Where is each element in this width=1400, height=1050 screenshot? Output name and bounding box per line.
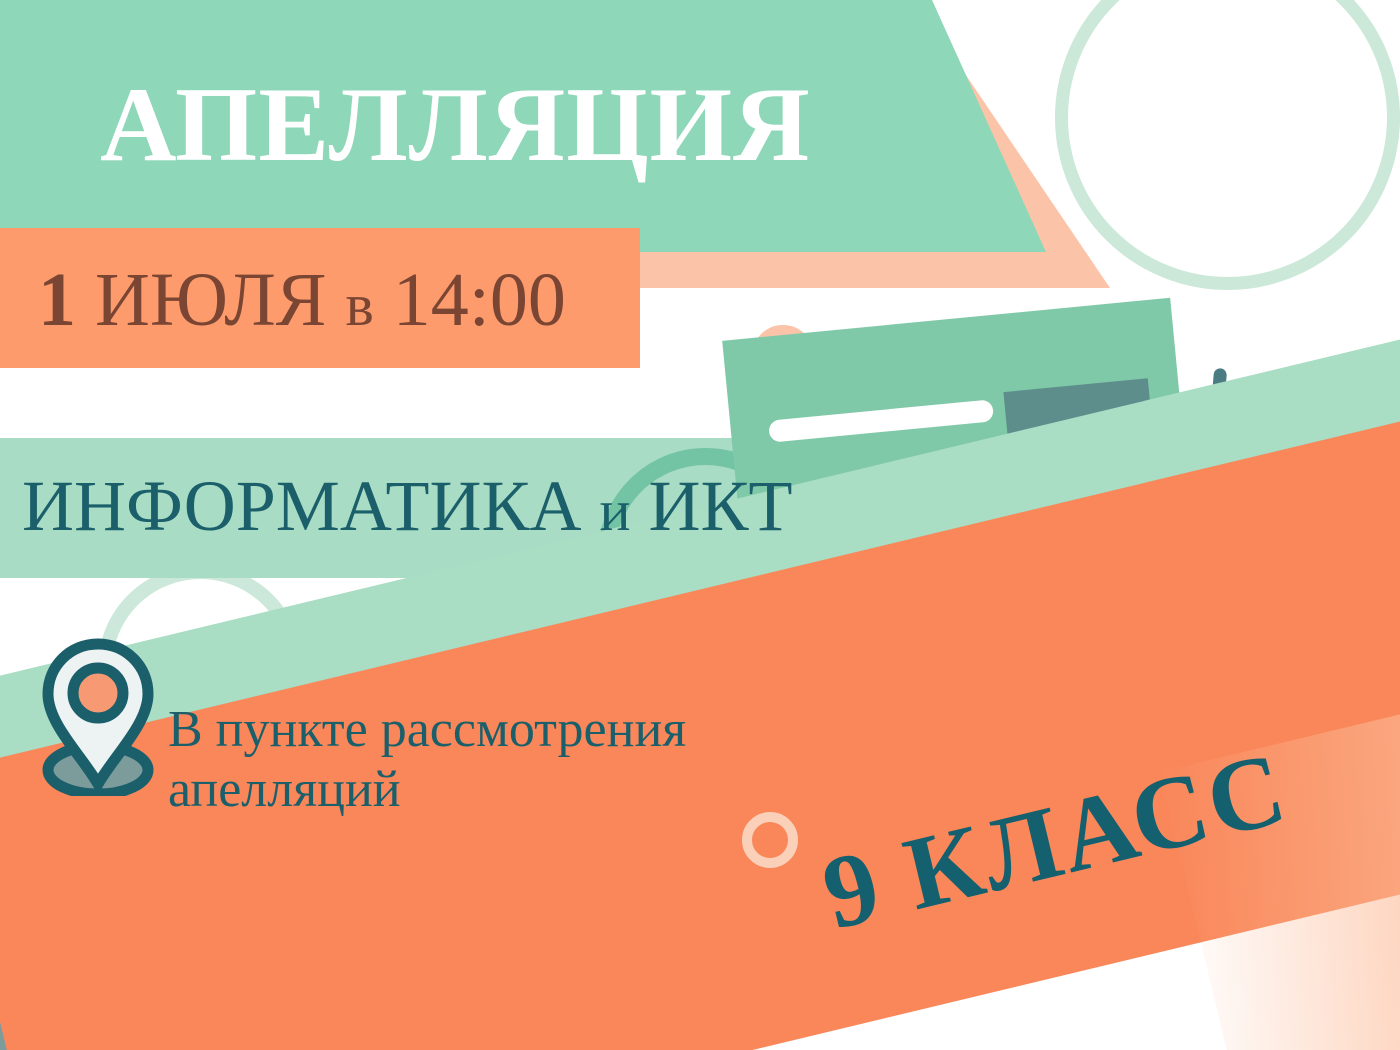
date-joiner: в [345, 272, 373, 338]
date-time: 14:00 [393, 258, 566, 342]
circle-outline-decoration-top-right [1055, 0, 1400, 290]
page-title: АПЕЛЛЯЦИЯ [100, 72, 811, 178]
subject-text: ИНФОРМАТИКА и ИКТ [22, 470, 793, 542]
poster-canvas: АПЕЛЛЯЦИЯ 1 ИЮЛЯ в 14:00 ИНФОРМАТИКА и И… [0, 0, 1400, 1050]
date-month: ИЮЛЯ [95, 258, 326, 342]
location-pin-icon [36, 636, 160, 796]
date-text: 1 ИЮЛЯ в 14:00 [38, 262, 566, 338]
date-day: 1 [38, 258, 76, 342]
subject-main: ИНФОРМАТИКА [22, 466, 581, 546]
circle-outline-decoration-doc-lower [742, 812, 798, 868]
place-text: В пункте рассмотрения апелляций [168, 700, 768, 820]
subject-abbr: ИКТ [649, 466, 793, 546]
subject-joiner: и [599, 478, 630, 543]
